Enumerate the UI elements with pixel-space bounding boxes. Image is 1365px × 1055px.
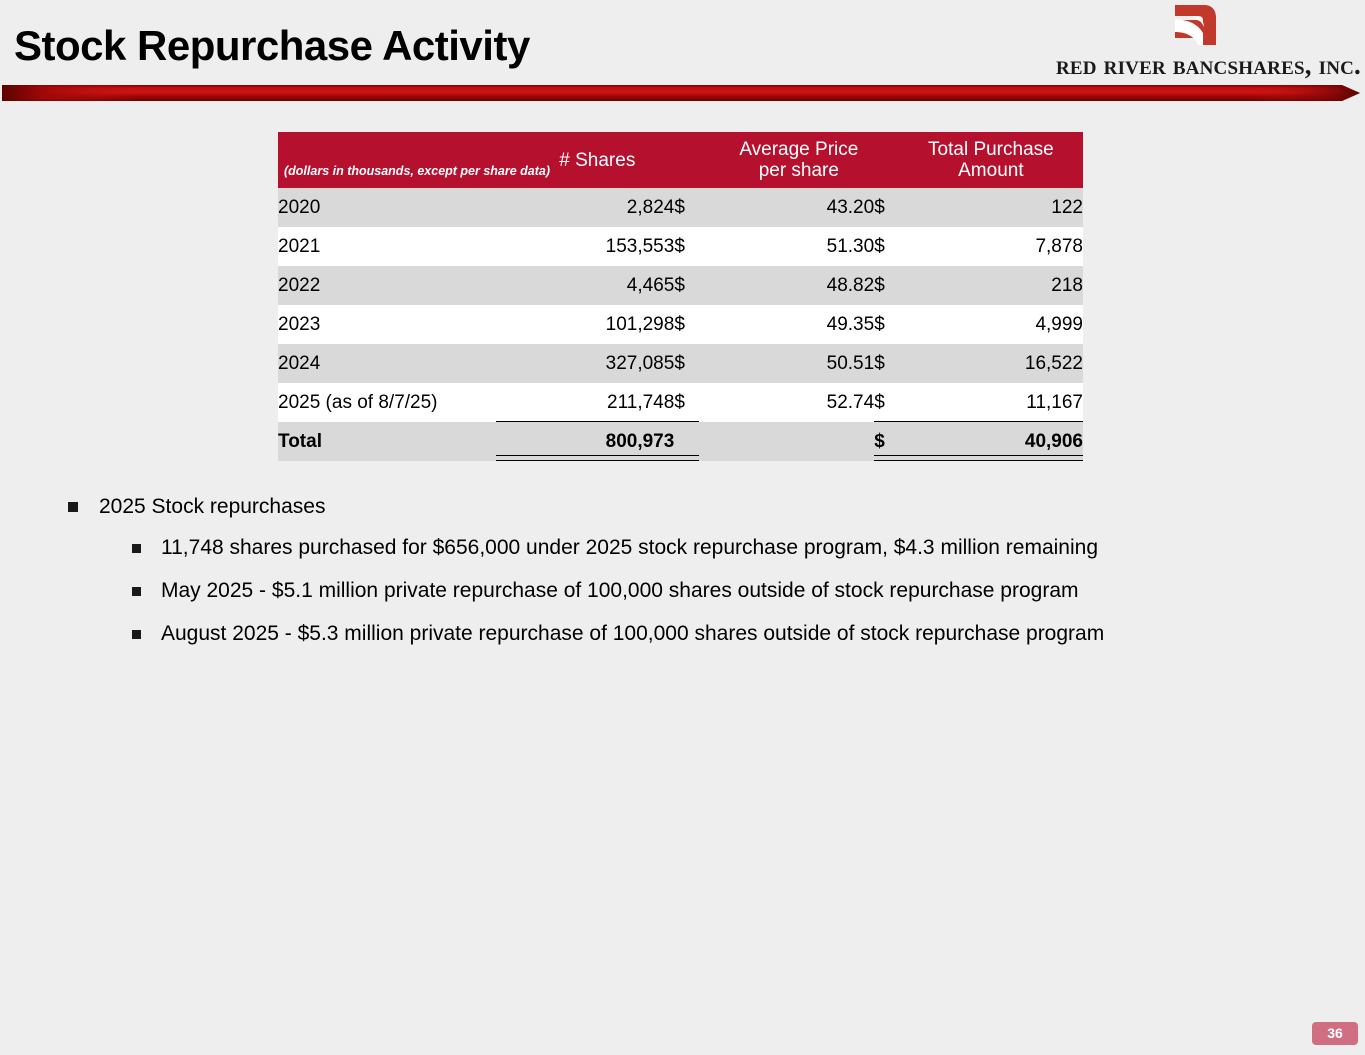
- cell-total-amount: 218: [899, 266, 1083, 305]
- table-row: 2021 153,553 $ 51.30 $ 7,878: [278, 227, 1083, 266]
- cell-total-amount: 7,878: [899, 227, 1083, 266]
- table-row: 2022 4,465 $ 48.82 $ 218: [278, 266, 1083, 305]
- page-title: Stock Repurchase Activity: [14, 20, 530, 72]
- brand-block: Red River Bancshares, Inc.: [1013, 0, 1363, 82]
- bullet-level2-text: May 2025 - $5.1 million private repurcha…: [161, 579, 1079, 602]
- cell-currency-price: $: [674, 266, 699, 305]
- cell-currency-amount: $: [874, 266, 899, 305]
- cell-total-avg-price: [699, 422, 874, 461]
- table-header-row: (dollars in thousands, except per share …: [278, 132, 1083, 188]
- page-number-badge: 36: [1312, 1022, 1358, 1045]
- cell-shares: 327,085: [496, 344, 675, 383]
- bullet-level2: May 2025 - $5.1 million private repurcha…: [128, 569, 1365, 612]
- table-header-note: (dollars in thousands, except per share …: [278, 132, 496, 188]
- cell-avg-price: 43.20: [699, 188, 874, 227]
- cell-currency-price: $: [674, 383, 699, 422]
- cell-shares: 101,298: [496, 305, 675, 344]
- cell-total-amount: 40,906: [899, 422, 1083, 461]
- cell-total-amount: 122: [899, 188, 1083, 227]
- cell-total-currency-price: [674, 422, 699, 461]
- cell-total-amount: 4,999: [899, 305, 1083, 344]
- table-row: 2023 101,298 $ 49.35 $ 4,999: [278, 305, 1083, 344]
- cell-currency-amount: $: [874, 188, 899, 227]
- table-row: 2024 327,085 $ 50.51 $ 16,522: [278, 344, 1083, 383]
- bullet-list: 2025 Stock repurchases 11,748 shares pur…: [0, 488, 1365, 655]
- table-total-row: Total 800,973 $ 40,906: [278, 422, 1083, 461]
- cell-currency-price: $: [674, 305, 699, 344]
- cell-currency-amount: $: [874, 344, 899, 383]
- brand-name: Red River Bancshares, Inc.: [1056, 50, 1361, 80]
- cell-avg-price: 49.35: [699, 305, 874, 344]
- cell-total-shares: 800,973: [496, 422, 675, 461]
- cell-shares: 4,465: [496, 266, 675, 305]
- cell-year: 2024: [278, 344, 496, 383]
- cell-shares: 153,553: [496, 227, 675, 266]
- bullet-level2: 11,748 shares purchased for $656,000 und…: [128, 526, 1365, 569]
- cell-year: 2023: [278, 305, 496, 344]
- bullet-level2: August 2025 - $5.3 million private repur…: [128, 612, 1365, 655]
- avg-price-line2: per share: [759, 160, 839, 181]
- bullet-level1: 2025 Stock repurchases: [68, 488, 1365, 526]
- title-accent-rule: [2, 83, 1360, 103]
- cell-currency-price: $: [674, 344, 699, 383]
- cell-avg-price: 48.82: [699, 266, 874, 305]
- total-purchase-line2: Amount: [958, 160, 1023, 181]
- cell-year: 2022: [278, 266, 496, 305]
- cell-shares: 211,748: [496, 383, 675, 422]
- cell-currency-price: $: [674, 227, 699, 266]
- red-river-logo-icon: [1173, 3, 1218, 47]
- cell-total-amount: 11,167: [899, 383, 1083, 422]
- cell-total-label: Total: [278, 422, 496, 461]
- cell-year: 2025 (as of 8/7/25): [278, 383, 496, 422]
- cell-avg-price: 51.30: [699, 227, 874, 266]
- bullet-level2-text: 11,748 shares purchased for $656,000 und…: [161, 536, 1098, 559]
- cell-avg-price: 50.51: [699, 344, 874, 383]
- table-body: 2020 2,824 $ 43.20 $ 122 2021 153,553 $ …: [278, 188, 1083, 461]
- cell-currency-amount: $: [874, 383, 899, 422]
- bullet-level2-text: August 2025 - $5.3 million private repur…: [161, 622, 1104, 645]
- table-header-avg-price: Average Price per share: [699, 132, 899, 188]
- table-row: 2025 (as of 8/7/25) 211,748 $ 52.74 $ 11…: [278, 383, 1083, 422]
- cell-total-amount: 16,522: [899, 344, 1083, 383]
- cell-shares: 2,824: [496, 188, 675, 227]
- cell-currency-amount: $: [874, 227, 899, 266]
- cell-year: 2020: [278, 188, 496, 227]
- cell-currency-amount: $: [874, 305, 899, 344]
- avg-price-line1: Average Price: [739, 139, 858, 160]
- cell-total-currency-amount: $: [874, 422, 899, 461]
- table-row: 2020 2,824 $ 43.20 $ 122: [278, 188, 1083, 227]
- bullet-level1-text: 2025 Stock repurchases: [99, 495, 325, 518]
- stock-repurchase-table: (dollars in thousands, except per share …: [278, 132, 1083, 461]
- slide-header: Stock Repurchase Activity Red River Banc…: [0, 0, 1365, 105]
- table-header-shares: # Shares: [496, 132, 699, 188]
- cell-currency-price: $: [674, 188, 699, 227]
- cell-year: 2021: [278, 227, 496, 266]
- table-header-total-purchase: Total Purchase Amount: [899, 132, 1083, 188]
- cell-avg-price: 52.74: [699, 383, 874, 422]
- total-purchase-line1: Total Purchase: [928, 139, 1054, 160]
